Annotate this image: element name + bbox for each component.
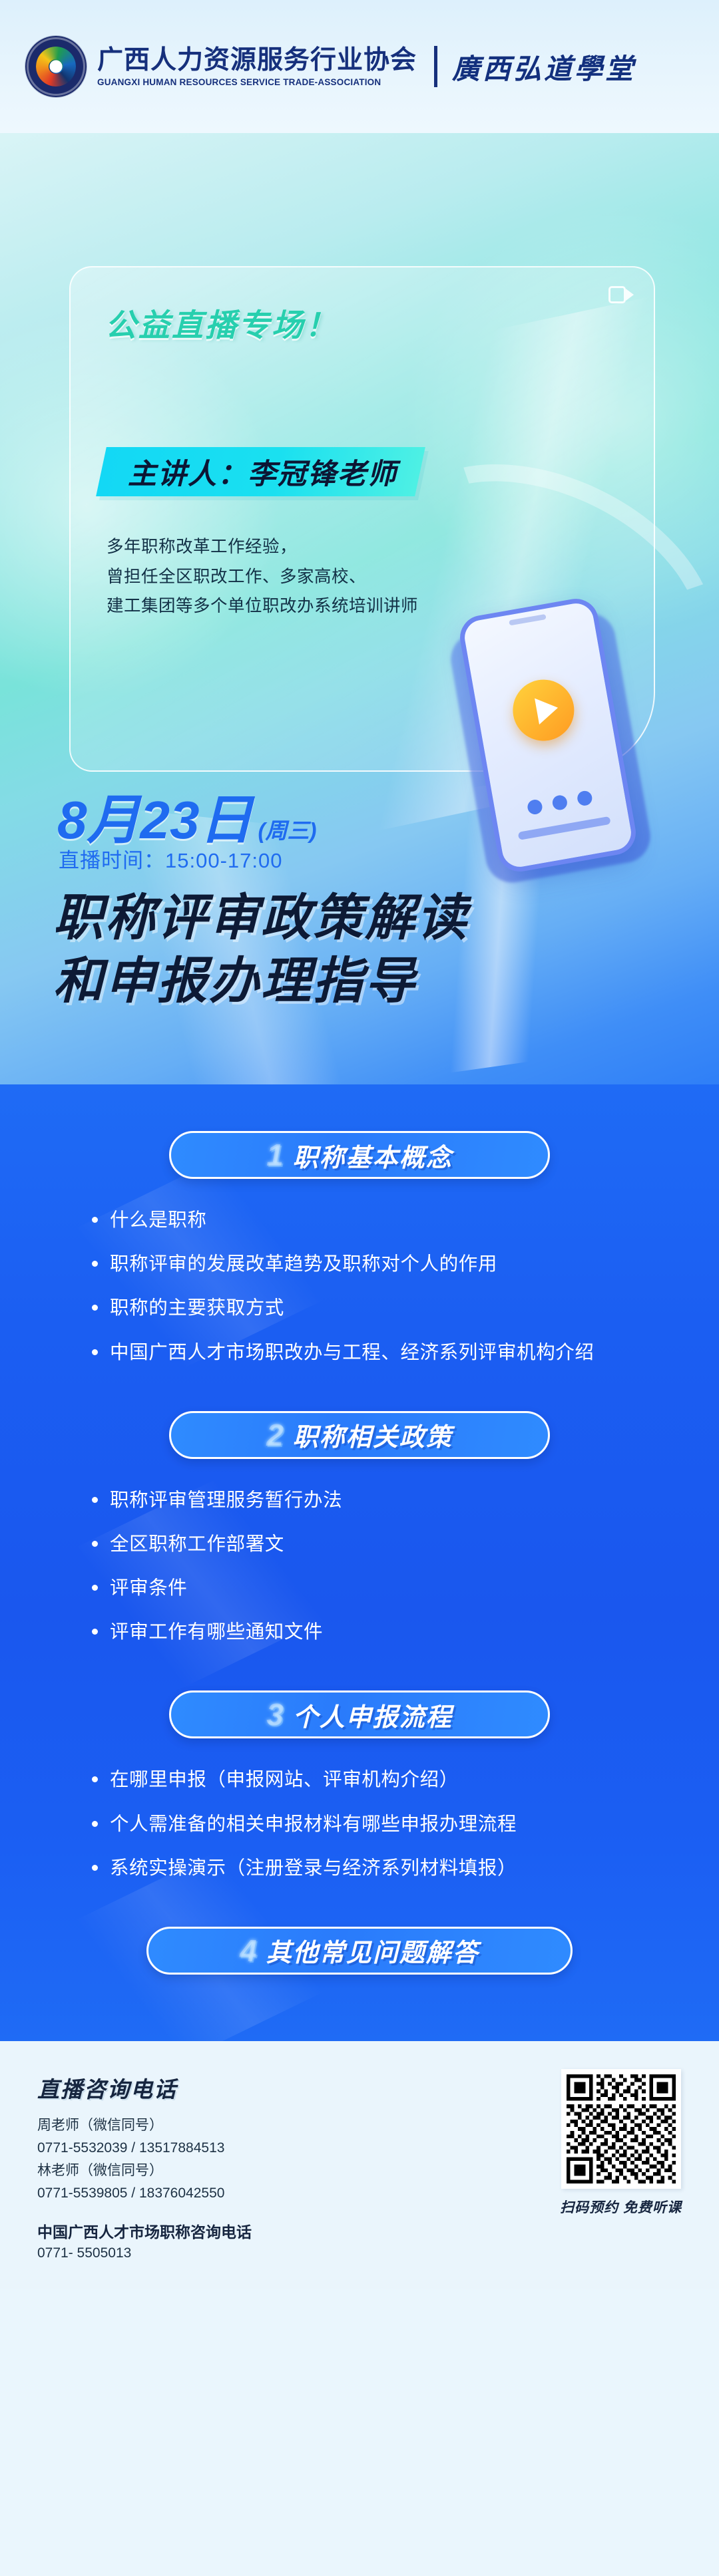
- list-item-text: 系统实操演示（注册登录与经济系列材料填报）: [110, 1853, 517, 1883]
- list-item-text: 在哪里申报（申报网站、评审机构介绍）: [110, 1765, 459, 1794]
- association-names: 广西人力资源服务行业协会 GUANGXI HUMAN RESOURCES SER…: [97, 46, 417, 87]
- list-item-text: 评审工作有哪些通知文件: [110, 1617, 323, 1647]
- section-header-4: 4 其他常见问题解答: [146, 1927, 573, 1975]
- list-item: 职称评审管理服务暂行办法: [92, 1486, 652, 1515]
- section-header-2: 2 职称相关政策: [169, 1411, 550, 1459]
- association-name-cn: 广西人力资源服务行业协会: [97, 46, 417, 75]
- speaker-name: 主讲人：李冠锋老师: [128, 451, 397, 492]
- section-title-1: 职称基本概念: [293, 1137, 453, 1174]
- section-number-2: 2: [266, 1420, 284, 1450]
- section-header-1: 1 职称基本概念: [169, 1131, 550, 1179]
- list-item-text: 评审条件: [110, 1573, 187, 1603]
- list-item-text: 职称评审的发展改革趋势及职称对个人的作用: [110, 1249, 497, 1279]
- list-item-text: 全区职称工作部署文: [110, 1529, 284, 1559]
- section-number-3: 3: [266, 1699, 284, 1730]
- list-item-text: 职称的主要获取方式: [110, 1293, 284, 1323]
- date-text: 8月23日: [57, 777, 252, 854]
- list-item: 评审条件: [92, 1573, 652, 1603]
- hero-title-line-1: 职称评审政策解读: [53, 886, 666, 949]
- list-item: 全区职称工作部署文: [92, 1529, 652, 1559]
- section-title-3: 个人申报流程: [293, 1696, 453, 1733]
- contact-line: 0771-5532039 / 13517884513: [37, 2137, 252, 2160]
- weekday-text: (周三): [258, 813, 316, 845]
- hero-title: 职称评审政策解读 和申报办理指导: [53, 886, 666, 1012]
- page-header: 广西人力资源服务行业协会 GUANGXI HUMAN RESOURCES SER…: [0, 0, 719, 133]
- phone-illustration: [455, 599, 655, 891]
- list-item-text: 什么是职称: [110, 1206, 207, 1235]
- qr-code-image[interactable]: [561, 2069, 681, 2189]
- list-item: 职称评审的发展改革趋势及职称对个人的作用: [92, 1249, 652, 1279]
- contact-line: 林老师（微信同号）: [37, 2160, 252, 2182]
- qr-block: 扫码预约 免费听课: [560, 2068, 682, 2217]
- footer-title: 直播咨询电话: [37, 2072, 252, 2104]
- qr-caption: 扫码预约 免费听课: [560, 2197, 682, 2217]
- section-items-2: 职称评审管理服务暂行办法 全区职称工作部署文 评审条件 评审工作有哪些通知文件: [67, 1486, 652, 1647]
- list-item-text: 个人需准备的相关申报材料有哪些申报办理流程: [110, 1810, 517, 1839]
- list-item: 评审工作有哪些通知文件: [92, 1617, 652, 1647]
- hero-section: 公益直播专场！ 主讲人：李冠锋老师 多年职称改革工作经验， 曾担任全区职改工作、…: [0, 133, 719, 1084]
- hero-title-line-2: 和申报办理指导: [53, 949, 666, 1013]
- video-camera-icon: [608, 286, 634, 303]
- speaker-banner: 主讲人：李冠锋老师: [96, 447, 425, 496]
- footer-contact-block: 直播咨询电话 周老师（微信同号） 0771-5532039 / 13517884…: [37, 2068, 252, 2265]
- section-header-3: 3 个人申报流程: [169, 1690, 550, 1738]
- page-footer: 直播咨询电话 周老师（微信同号） 0771-5532039 / 13517884…: [0, 2041, 719, 2289]
- section-number-4: 4: [240, 1935, 257, 1966]
- live-time: 直播时间：15:00-17:00: [59, 844, 282, 874]
- agenda-sections: 1 职称基本概念 什么是职称 职称评审的发展改革趋势及职称对个人的作用 职称的主…: [0, 1084, 719, 2041]
- section-title-4: 其他常见问题解答: [266, 1932, 479, 1969]
- public-welfare-badge: 公益直播专场！: [105, 299, 338, 345]
- association-logo: 广西人力资源服务行业协会 GUANGXI HUMAN RESOURCES SER…: [25, 36, 417, 97]
- list-item: 中国广西人才市场职改办与工程、经济系列评审机构介绍: [92, 1338, 652, 1367]
- list-item: 个人需准备的相关申报材料有哪些申报办理流程: [92, 1810, 652, 1839]
- play-icon: [508, 675, 579, 746]
- list-item: 系统实操演示（注册登录与经济系列材料填报）: [92, 1853, 652, 1883]
- list-item-text: 中国广西人才市场职改办与工程、经济系列评审机构介绍: [110, 1338, 595, 1367]
- association-seal-icon: [25, 36, 87, 97]
- section-title-2: 职称相关政策: [293, 1416, 453, 1453]
- list-item-text: 职称评审管理服务暂行办法: [110, 1486, 342, 1515]
- qr-code-svg: [567, 2074, 676, 2183]
- event-date: 8月23日 (周三): [57, 777, 316, 854]
- list-item: 什么是职称: [92, 1206, 652, 1235]
- market-hotline-label: 中国广西人才市场职称咨询电话: [37, 2219, 252, 2242]
- section-items-3: 在哪里申报（申报网站、评审机构介绍） 个人需准备的相关申报材料有哪些申报办理流程…: [67, 1765, 652, 1883]
- market-hotline-number: 0771- 5505013: [37, 2242, 252, 2265]
- section-items-1: 什么是职称 职称评审的发展改革趋势及职称对个人的作用 职称的主要获取方式 中国广…: [67, 1206, 652, 1367]
- association-name-en: GUANGXI HUMAN RESOURCES SERVICE TRADE-AS…: [97, 77, 417, 87]
- contact-line: 0771-5539805 / 18376042550: [37, 2182, 252, 2205]
- academy-name: 廣西弘道學堂: [452, 47, 636, 87]
- section-number-1: 1: [266, 1140, 284, 1170]
- header-divider: [434, 46, 437, 87]
- contact-line: 周老师（微信同号）: [37, 2114, 252, 2137]
- list-item: 在哪里申报（申报网站、评审机构介绍）: [92, 1765, 652, 1794]
- list-item: 职称的主要获取方式: [92, 1293, 652, 1323]
